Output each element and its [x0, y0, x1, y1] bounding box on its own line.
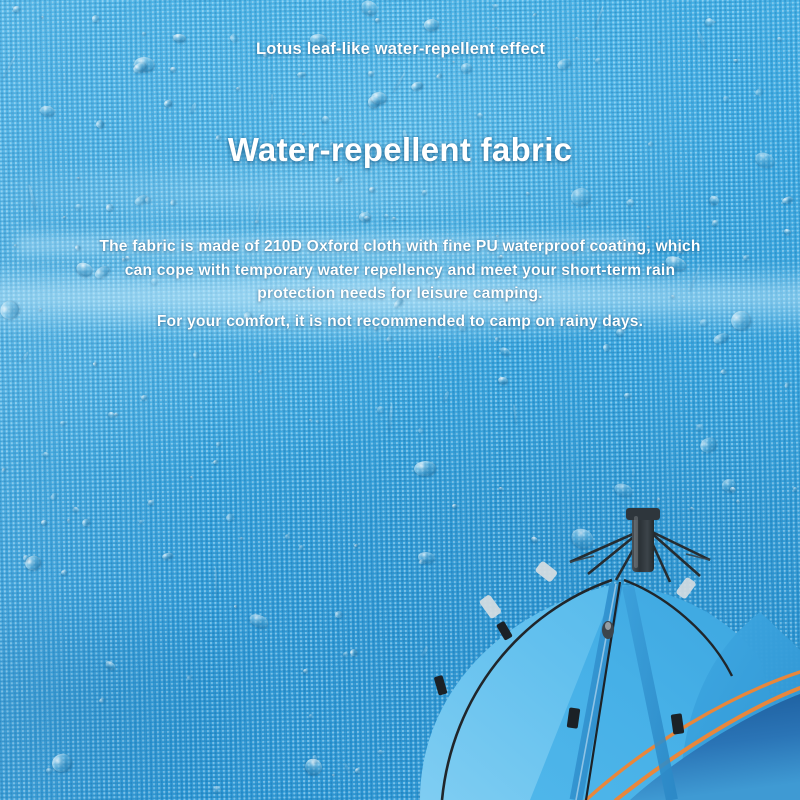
product-banner: Lotus leaf-like water-repellent effect W… [0, 0, 800, 800]
tent-pole-slider-highlight [605, 622, 611, 630]
eyebrow-text: Lotus leaf-like water-repellent effect [256, 38, 556, 60]
tent-hub-highlight [634, 516, 638, 568]
tent-hub-cap [626, 508, 660, 520]
tent-icon [380, 500, 800, 800]
page-title: Water-repellent fabric [0, 130, 800, 170]
note-text: For your comfort, it is not recommended … [100, 310, 700, 333]
body-text: The fabric is made of 210D Oxford cloth … [88, 235, 712, 306]
